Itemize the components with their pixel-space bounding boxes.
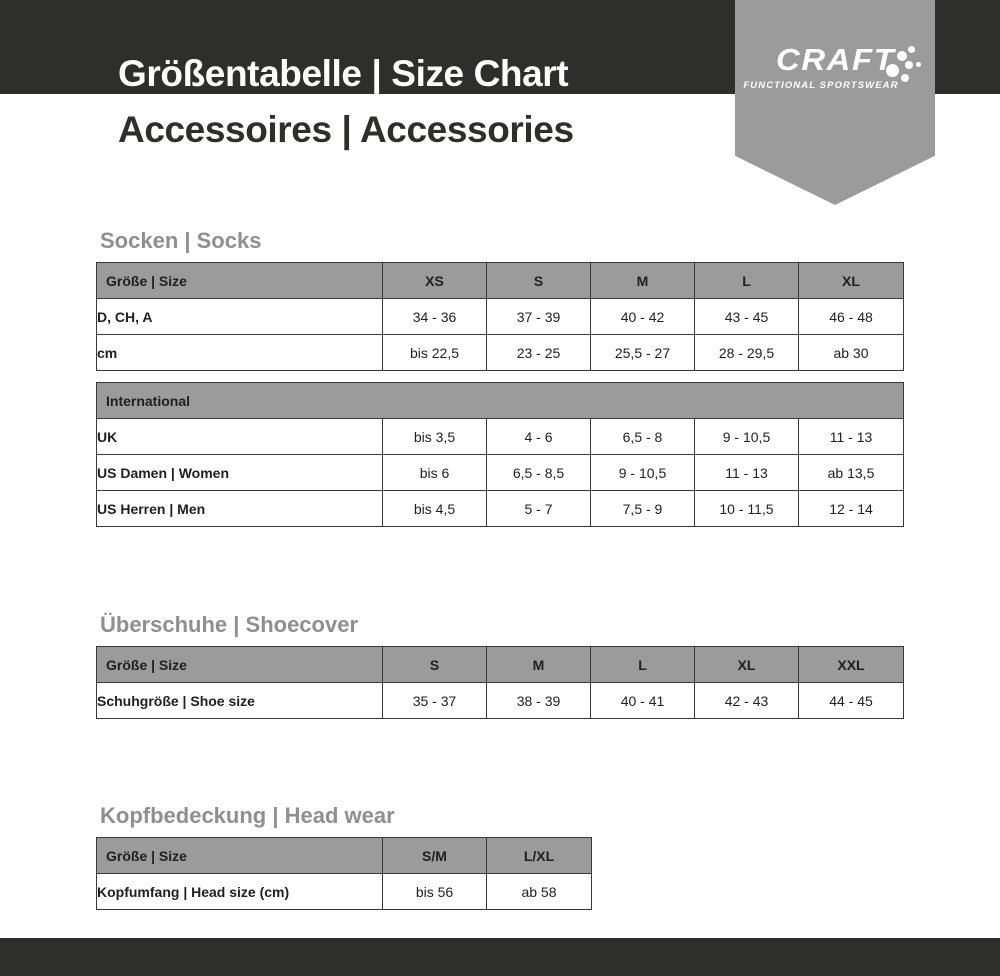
column-header-s: S <box>487 263 591 299</box>
cell-value: ab 58 <box>487 874 592 910</box>
cell-value: 37 - 39 <box>487 299 591 335</box>
cell-value: bis 6 <box>383 455 487 491</box>
column-header-s: S <box>383 647 487 683</box>
table-row: US Damen | Women bis 6 6,5 - 8,5 9 - 10,… <box>97 455 904 491</box>
row-label: D, CH, A <box>97 299 383 335</box>
table-header-row: Größe | Size S M L XL XXL <box>97 647 904 683</box>
table-header-row: Größe | Size S/M L/XL <box>97 838 592 874</box>
cell-value: 25,5 - 27 <box>591 335 695 371</box>
cell-value: 35 - 37 <box>383 683 487 719</box>
cell-value: 9 - 10,5 <box>591 455 695 491</box>
section-title-shoecover: Überschuhe | Shoecover <box>100 612 904 638</box>
column-header-international: International <box>97 383 904 419</box>
column-header-m: M <box>591 263 695 299</box>
column-header-lxl: L/XL <box>487 838 592 874</box>
table-gap <box>96 371 904 382</box>
table-row: D, CH, A 34 - 36 37 - 39 40 - 42 43 - 45… <box>97 299 904 335</box>
cell-value: 46 - 48 <box>799 299 904 335</box>
cell-value: 38 - 39 <box>487 683 591 719</box>
row-label: US Herren | Men <box>97 491 383 527</box>
cell-value: bis 22,5 <box>383 335 487 371</box>
page-title-main: Größentabelle | Size Chart <box>118 52 738 96</box>
column-header-label: Größe | Size <box>97 647 383 683</box>
cell-value: 40 - 41 <box>591 683 695 719</box>
column-header-label: Größe | Size <box>97 838 383 874</box>
cell-value: 11 - 13 <box>695 455 799 491</box>
cell-value: 7,5 - 9 <box>591 491 695 527</box>
column-header-xl: XL <box>695 647 799 683</box>
table-header-row: Größe | Size XS S M L XL <box>97 263 904 299</box>
cell-value: 4 - 6 <box>487 419 591 455</box>
cell-value: bis 3,5 <box>383 419 487 455</box>
row-label: cm <box>97 335 383 371</box>
column-header-sm: S/M <box>383 838 487 874</box>
section-shoecover: Überschuhe | Shoecover Größe | Size S M … <box>96 612 904 719</box>
section-title-socks: Socken | Socks <box>100 228 904 254</box>
cell-value: 9 - 10,5 <box>695 419 799 455</box>
column-header-xs: XS <box>383 263 487 299</box>
table-header-row: International <box>97 383 904 419</box>
cell-value: 43 - 45 <box>695 299 799 335</box>
table-socks-international: International UK bis 3,5 4 - 6 6,5 - 8 9… <box>96 382 904 527</box>
cell-value: 34 - 36 <box>383 299 487 335</box>
cell-value: ab 13,5 <box>799 455 904 491</box>
section-title-headwear: Kopfbedeckung | Head wear <box>100 803 592 829</box>
table-row: US Herren | Men bis 4,5 5 - 7 7,5 - 9 10… <box>97 491 904 527</box>
table-shoecover-sizes: Größe | Size S M L XL XXL Schuhgröße | S… <box>96 646 904 719</box>
cell-value: 11 - 13 <box>799 419 904 455</box>
column-header-l: L <box>591 647 695 683</box>
cell-value: 23 - 25 <box>487 335 591 371</box>
cell-value: 40 - 42 <box>591 299 695 335</box>
table-row: UK bis 3,5 4 - 6 6,5 - 8 9 - 10,5 11 - 1… <box>97 419 904 455</box>
row-label: Schuhgröße | Shoe size <box>97 683 383 719</box>
column-header-xl: XL <box>799 263 904 299</box>
table-row: Schuhgröße | Shoe size 35 - 37 38 - 39 4… <box>97 683 904 719</box>
table-row: Kopfumfang | Head size (cm) bis 56 ab 58 <box>97 874 592 910</box>
column-header-xxl: XXL <box>799 647 904 683</box>
cell-value: bis 4,5 <box>383 491 487 527</box>
table-headwear-sizes: Größe | Size S/M L/XL Kopfumfang | Head … <box>96 837 592 910</box>
page-title: Größentabelle | Size Chart Accessoires |… <box>118 52 738 152</box>
column-header-l: L <box>695 263 799 299</box>
page-title-sub: Accessoires | Accessories <box>118 108 738 152</box>
row-label: US Damen | Women <box>97 455 383 491</box>
cell-value: ab 30 <box>799 335 904 371</box>
cell-value: 28 - 29,5 <box>695 335 799 371</box>
brand-banner: CRAFT FUNCTIONAL SPORTSWEAR <box>735 0 935 205</box>
cell-value: 6,5 - 8,5 <box>487 455 591 491</box>
cell-value: 5 - 7 <box>487 491 591 527</box>
row-label: UK <box>97 419 383 455</box>
cell-value: 6,5 - 8 <box>591 419 695 455</box>
section-headwear: Kopfbedeckung | Head wear Größe | Size S… <box>96 803 592 910</box>
row-label: Kopfumfang | Head size (cm) <box>97 874 383 910</box>
brand-logo: CRAFT FUNCTIONAL SPORTSWEAR <box>735 44 935 75</box>
table-socks-metric: Größe | Size XS S M L XL D, CH, A 34 - 3… <box>96 262 904 371</box>
brand-tagline: FUNCTIONAL SPORTSWEAR <box>721 80 921 91</box>
footer-dark-band <box>0 938 1000 976</box>
cell-value: 44 - 45 <box>799 683 904 719</box>
cell-value: 10 - 11,5 <box>695 491 799 527</box>
section-socks: Socken | Socks Größe | Size XS S M L XL … <box>96 228 904 527</box>
column-header-label: Größe | Size <box>97 263 383 299</box>
brand-name: CRAFT <box>776 44 895 75</box>
table-row: cm bis 22,5 23 - 25 25,5 - 27 28 - 29,5 … <box>97 335 904 371</box>
cell-value: bis 56 <box>383 874 487 910</box>
cell-value: 12 - 14 <box>799 491 904 527</box>
column-header-m: M <box>487 647 591 683</box>
cell-value: 42 - 43 <box>695 683 799 719</box>
